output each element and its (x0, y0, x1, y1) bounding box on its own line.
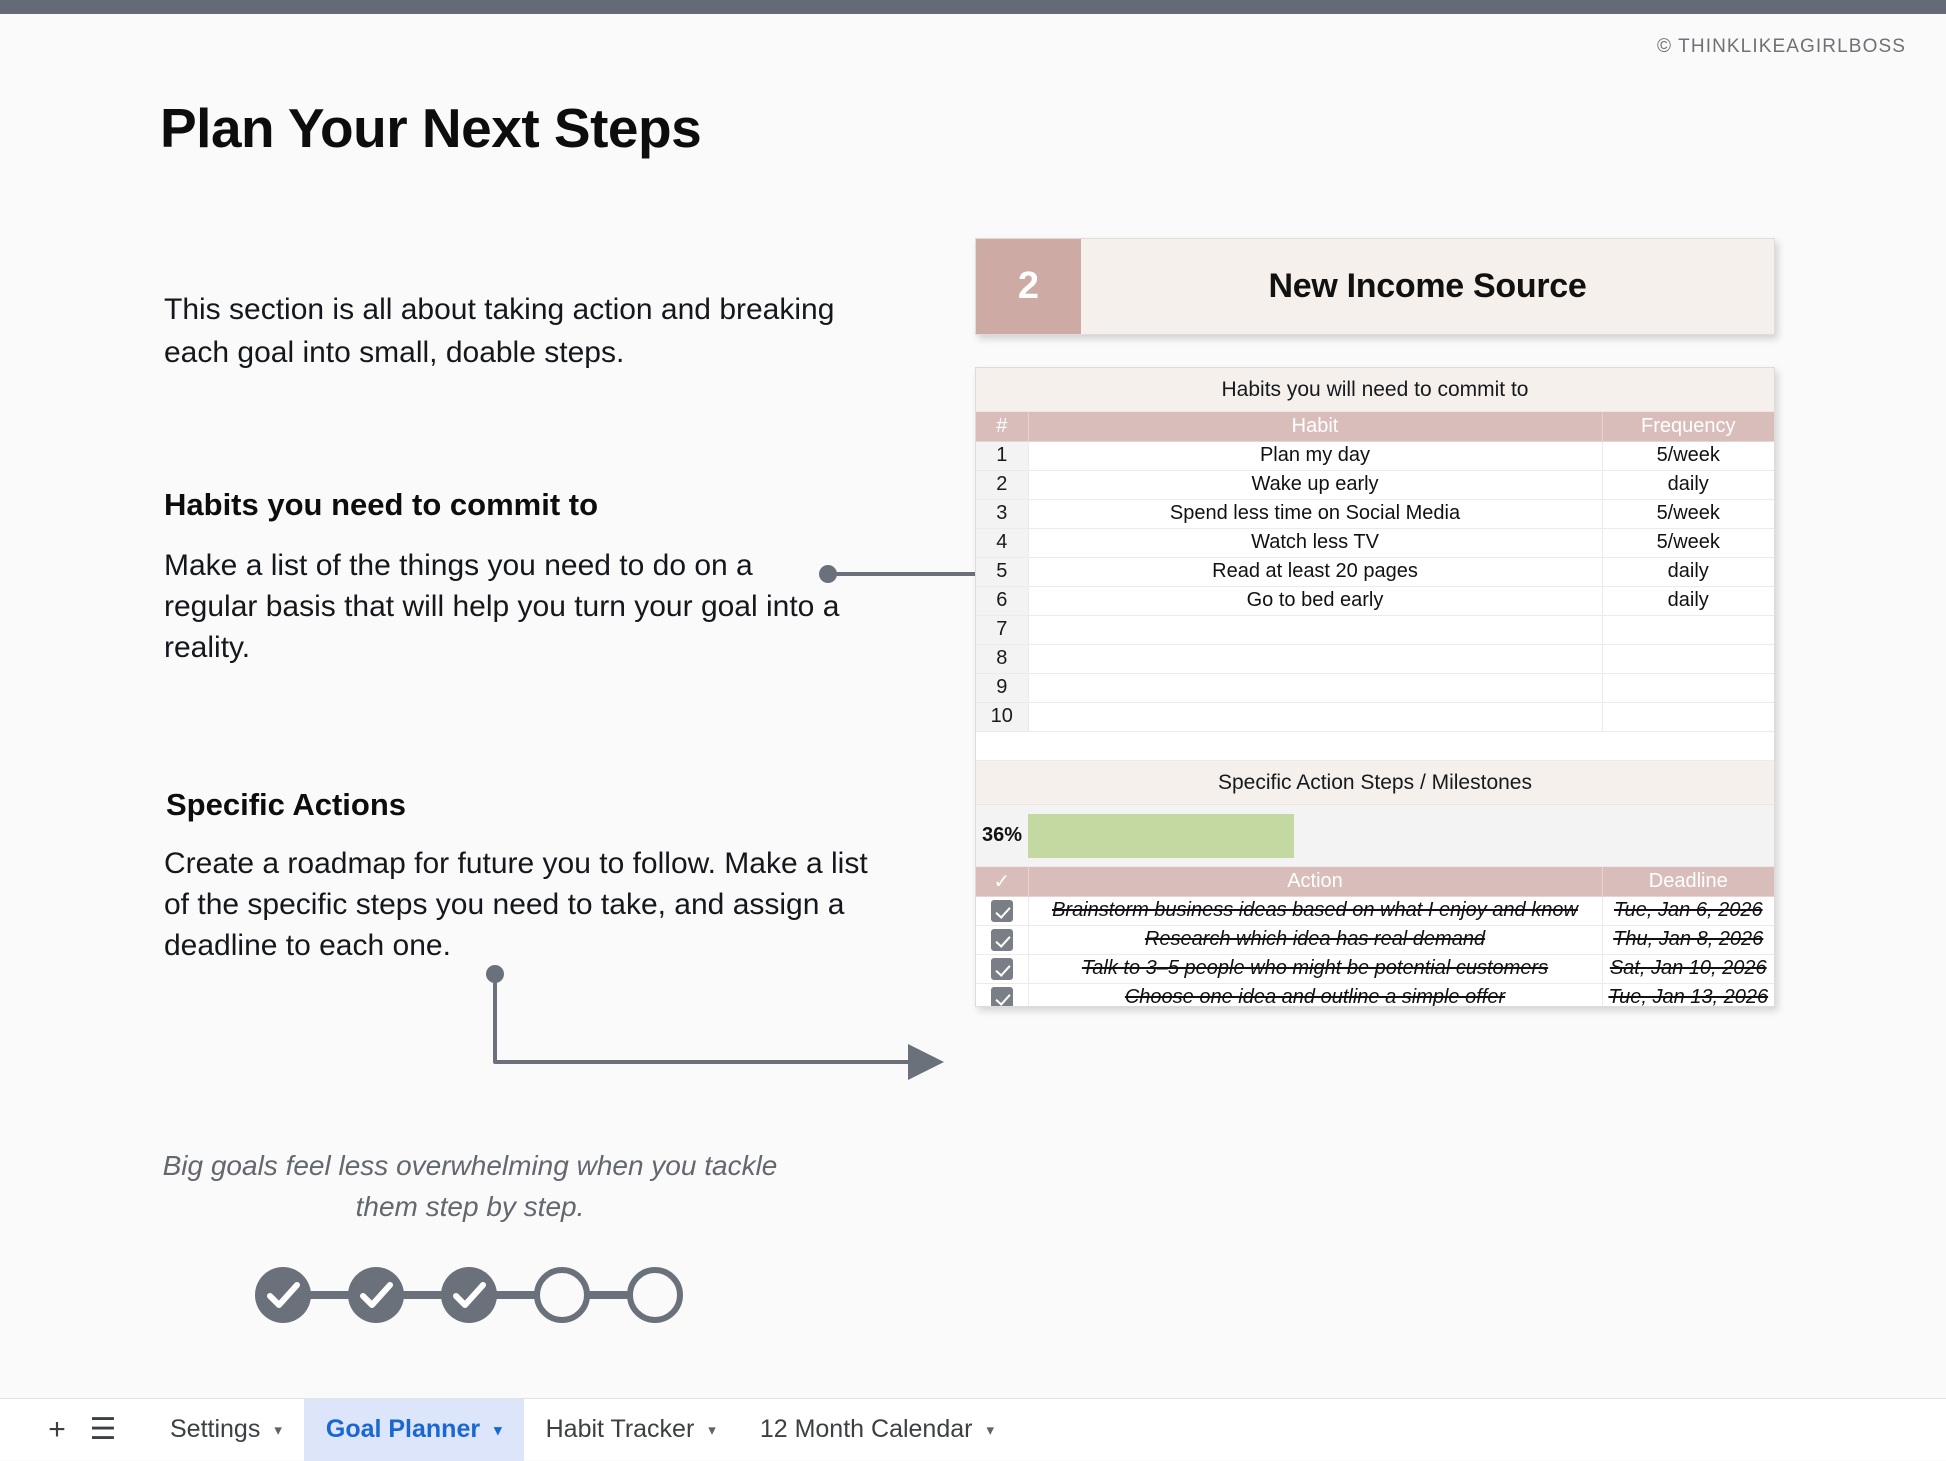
habit-frequency[interactable] (1602, 615, 1774, 644)
actions-col-deadline[interactable]: Deadline (1602, 867, 1774, 896)
checkbox-checked-icon[interactable] (991, 958, 1013, 980)
all-sheets-menu-icon[interactable]: ☰ (80, 1407, 126, 1453)
habits-col-index[interactable]: # (976, 412, 1028, 441)
habit-row: 3Spend less time on Social Media5/week (976, 499, 1774, 528)
habit-frequency[interactable] (1602, 673, 1774, 702)
checkbox-checked-icon[interactable] (991, 900, 1013, 922)
chevron-down-icon[interactable]: ▾ (708, 1421, 716, 1439)
section-heading-habits: Habits you need to commit to (164, 487, 598, 523)
goal-number: 2 (976, 239, 1081, 334)
habit-frequency[interactable] (1602, 644, 1774, 673)
action-row: Choose one idea and outline a simple off… (976, 983, 1774, 1007)
actions-col-check[interactable]: ✓ (976, 867, 1028, 896)
add-sheet-icon[interactable]: + (34, 1407, 80, 1453)
habit-row: 1Plan my day5/week (976, 441, 1774, 470)
window-top-bar (0, 0, 1946, 14)
habit-index[interactable]: 4 (976, 528, 1028, 557)
progress-fill (1028, 814, 1294, 858)
checkbox-checked-icon[interactable] (991, 929, 1013, 951)
habit-name[interactable] (1028, 615, 1602, 644)
habit-index[interactable]: 5 (976, 557, 1028, 586)
goal-title: New Income Source (1081, 239, 1774, 334)
sheet-tab-12-month-calendar[interactable]: 12 Month Calendar▾ (738, 1399, 1016, 1461)
sheet-tab-settings[interactable]: Settings▾ (148, 1399, 304, 1461)
habit-frequency[interactable]: daily (1602, 557, 1774, 586)
action-checkbox-cell[interactable] (976, 954, 1028, 983)
habits-col-habit[interactable]: Habit (1028, 412, 1602, 441)
action-deadline[interactable]: Sat, Jan 10, 2026 (1602, 954, 1774, 983)
habit-frequency[interactable]: 5/week (1602, 528, 1774, 557)
motivational-quote: Big goals feel less overwhelming when yo… (150, 1145, 790, 1227)
habit-row: 10 (976, 702, 1774, 731)
stepper-node-pending (630, 1270, 680, 1320)
habit-index[interactable]: 8 (976, 644, 1028, 673)
copyright-notice: © THINKLIKEAGIRLBOSS (1657, 36, 1906, 58)
action-text[interactable]: Research which idea has real demand (1028, 925, 1602, 954)
action-text[interactable]: Talk to 3–5 people who might be potentia… (1028, 954, 1602, 983)
action-text[interactable]: Brainstorm business ideas based on what … (1028, 896, 1602, 925)
sheet-tab-label: Goal Planner (326, 1415, 480, 1444)
habit-frequency[interactable] (1602, 702, 1774, 731)
chevron-down-icon[interactable]: ▾ (986, 1421, 994, 1439)
chevron-down-icon[interactable]: ▾ (274, 1421, 282, 1439)
action-deadline[interactable]: Tue, Jan 13, 2026 (1602, 983, 1774, 1007)
intro-paragraph: This section is all about taking action … (164, 288, 884, 374)
actions-header-row: ✓ Action Deadline (976, 867, 1774, 896)
sheet-tab-habit-tracker[interactable]: Habit Tracker▾ (524, 1399, 738, 1461)
actions-band-title: Specific Action Steps / Milestones (976, 761, 1774, 805)
action-row: Brainstorm business ideas based on what … (976, 896, 1774, 925)
sheet-tab-bar: + ☰ Settings▾Goal Planner▾Habit Tracker▾… (0, 1398, 1946, 1460)
chevron-down-icon[interactable]: ▾ (494, 1421, 502, 1439)
habit-row: 7 (976, 615, 1774, 644)
habits-spacer (976, 732, 1774, 762)
action-checkbox-cell[interactable] (976, 983, 1028, 1007)
habit-index[interactable]: 1 (976, 441, 1028, 470)
action-text[interactable]: Choose one idea and outline a simple off… (1028, 983, 1602, 1007)
habit-name[interactable] (1028, 673, 1602, 702)
vertical-scrollbar[interactable] (1930, 14, 1946, 1398)
action-deadline[interactable]: Thu, Jan 8, 2026 (1602, 925, 1774, 954)
habit-frequency[interactable]: 5/week (1602, 441, 1774, 470)
sheet-tab-label: Habit Tracker (546, 1415, 695, 1444)
action-checkbox-cell[interactable] (976, 925, 1028, 954)
habit-row: 9 (976, 673, 1774, 702)
habit-index[interactable]: 10 (976, 702, 1028, 731)
action-deadline[interactable]: Tue, Jan 6, 2026 (1602, 896, 1774, 925)
habit-row: 2Wake up earlydaily (976, 470, 1774, 499)
stepper-node-complete (255, 1267, 311, 1323)
stepper-node-pending (537, 1270, 587, 1320)
sheet-tab-label: Settings (170, 1415, 260, 1444)
action-row: Research which idea has real demandThu, … (976, 925, 1774, 954)
habits-band-title: Habits you will need to commit to (976, 368, 1774, 412)
habit-row: 5Read at least 20 pagesdaily (976, 557, 1774, 586)
stepper-node-complete (348, 1267, 404, 1323)
sheet-tab-label: 12 Month Calendar (760, 1415, 973, 1444)
sheet-tab-goal-planner[interactable]: Goal Planner▾ (304, 1399, 524, 1461)
habit-frequency[interactable]: 5/week (1602, 499, 1774, 528)
habit-name[interactable]: Wake up early (1028, 470, 1602, 499)
actions-table: ✓ Action Deadline Brainstorm business id… (976, 867, 1774, 1007)
section-body-habits: Make a list of the things you need to do… (164, 545, 844, 668)
habits-header-row: # Habit Frequency (976, 412, 1774, 441)
action-checkbox-cell[interactable] (976, 896, 1028, 925)
progress-track (1028, 814, 1768, 858)
habit-index[interactable]: 9 (976, 673, 1028, 702)
tab-list: Settings▾Goal Planner▾Habit Tracker▾12 M… (148, 1399, 1016, 1461)
section-body-actions: Create a roadmap for future you to follo… (164, 843, 894, 966)
progress-stepper (245, 1255, 715, 1335)
habits-col-freq[interactable]: Frequency (1602, 412, 1774, 441)
checkbox-checked-icon[interactable] (991, 987, 1013, 1007)
action-row: Talk to 3–5 people who might be potentia… (976, 954, 1774, 983)
habits-table: # Habit Frequency 1Plan my day5/week2Wak… (976, 412, 1774, 732)
sheet-spacer (976, 732, 1774, 761)
progress-percent-label: 36% (976, 824, 1028, 847)
habit-name[interactable] (1028, 644, 1602, 673)
stepper-node-complete (441, 1267, 497, 1323)
habit-row: 6Go to bed earlydaily (976, 586, 1774, 615)
habit-name[interactable]: Read at least 20 pages (1028, 557, 1602, 586)
habit-name[interactable] (1028, 702, 1602, 731)
habit-row: 4Watch less TV5/week (976, 528, 1774, 557)
section-heading-actions: Specific Actions (166, 787, 406, 823)
habit-name[interactable]: Go to bed early (1028, 586, 1602, 615)
page-title: Plan Your Next Steps (160, 96, 701, 160)
habit-index[interactable]: 3 (976, 499, 1028, 528)
goal-planner-sheet[interactable]: Habits you will need to commit to # Habi… (975, 367, 1775, 1007)
habit-index[interactable]: 2 (976, 470, 1028, 499)
habit-row: 8 (976, 644, 1774, 673)
actions-col-action[interactable]: Action (1028, 867, 1602, 896)
habit-name[interactable]: Watch less TV (1028, 528, 1602, 557)
habit-index[interactable]: 7 (976, 615, 1028, 644)
goal-header-card[interactable]: 2 New Income Source (975, 238, 1775, 335)
habit-name[interactable]: Plan my day (1028, 441, 1602, 470)
habit-name[interactable]: Spend less time on Social Media (1028, 499, 1602, 528)
habit-index[interactable]: 6 (976, 586, 1028, 615)
habit-frequency[interactable]: daily (1602, 470, 1774, 499)
habit-frequency[interactable]: daily (1602, 586, 1774, 615)
actions-progress-row: 36% (976, 805, 1774, 867)
